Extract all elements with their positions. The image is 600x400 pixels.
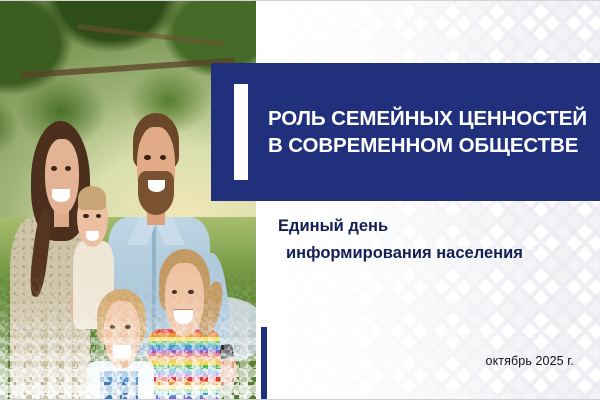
page-title-line-1: РОЛЬ СЕМЕЙНЫХ ЦЕННОСТЕЙ [268,105,587,132]
photo-father-eye-left [144,155,150,160]
page-title: РОЛЬ СЕМЕЙНЫХ ЦЕННОСТЕЙ В СОВРЕМЕННОМ ОБ… [268,105,587,159]
page-title-line-2: В СОВРЕМЕННОМ ОБЩЕСТВЕ [268,132,587,159]
photo-girl-face [165,263,203,337]
title-accent-bar [234,84,248,180]
photo-baby-eye-left [83,214,88,218]
photo-father-beard [138,171,174,215]
photo-baby-eye-right [96,214,101,218]
subtitle-line-1: Единый день [278,213,523,240]
subtitle-line-2: информирования населения [286,240,523,267]
photo-girl-eye-right [188,290,194,294]
photo-mother-face [45,139,80,215]
presentation-slide: РОЛЬ СЕМЕЙНЫХ ЦЕННОСТЕЙ В СОВРЕМЕННОМ ОБ… [0,0,600,400]
subtitle: Единый день информирования населения [278,213,523,266]
photo-boy-tshirt-print [100,371,138,399]
title-banner: РОЛЬ СЕМЕЙНЫХ ЦЕННОСТЕЙ В СОВРЕМЕННОМ ОБ… [211,63,600,201]
photo-father-smile [148,180,165,192]
date-label: октябрь 2025 г. [0,354,574,368]
photo-baby-hair [78,186,106,210]
